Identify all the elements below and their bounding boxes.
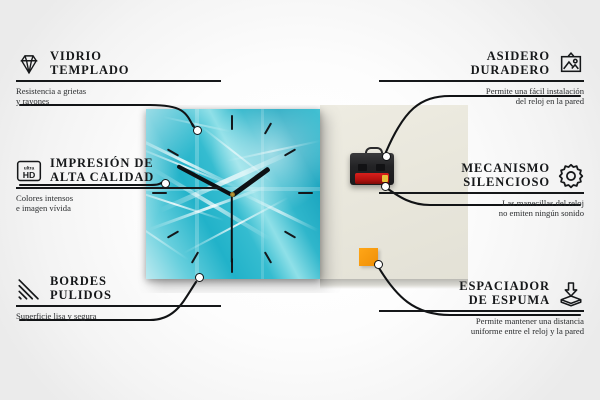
feature-title: MECANISMO SILENCIOSO	[461, 162, 550, 189]
ultra-hd-icon: ultra HD	[16, 158, 42, 184]
feature-subtitle: Colores intensos e imagen vívida	[16, 193, 221, 214]
clock-tick	[231, 115, 233, 130]
feature-divider	[16, 305, 221, 307]
diamond-icon	[16, 51, 42, 77]
clock-tick	[298, 192, 313, 194]
clock-center-pin	[230, 192, 235, 197]
feature-subtitle: Las manecillas del reloj no emiten ningú…	[379, 198, 584, 219]
gear-icon	[558, 163, 584, 189]
feature-title: VIDRIO TEMPLADO	[50, 50, 129, 77]
foam-spacer-icon	[558, 281, 584, 307]
feature-title: ASIDERO DURADERO	[471, 50, 550, 77]
feature-asidero-duradero: ASIDERO DURADERO Permite una fácil insta…	[379, 50, 584, 106]
connector-dot-vidrio-templado	[193, 126, 202, 135]
feature-espaciador-de-espuma: ESPACIADOR DE ESPUMA Permite mantener un…	[379, 280, 584, 336]
feature-subtitle: Permite una fácil instalación del reloj …	[379, 86, 584, 107]
connector-dot-espaciador	[374, 260, 383, 269]
picture-hanger-icon	[558, 51, 584, 77]
connector-dot-asidero	[382, 152, 391, 161]
feature-bordes-pulidos: BORDES PULIDOS Superficie lisa y segura	[16, 275, 221, 321]
feature-divider	[379, 310, 584, 312]
feature-impresion-alta-calidad: ultra HD IMPRESIÓN DE ALTA CALIDAD Color…	[16, 157, 221, 213]
polished-edge-icon	[16, 276, 42, 302]
feature-subtitle: Resistencia a grietas y rayones	[16, 86, 221, 107]
feature-divider	[16, 187, 221, 189]
feature-divider	[379, 80, 584, 82]
feature-subtitle: Superficie lisa y segura	[16, 311, 221, 321]
svg-text:HD: HD	[23, 169, 36, 179]
feature-title: BORDES PULIDOS	[50, 275, 112, 302]
feature-divider	[16, 80, 221, 82]
feature-mecanismo-silencioso: MECANISMO SILENCIOSO Las manecillas del …	[379, 162, 584, 218]
clock-second-hand	[231, 195, 233, 263]
feature-title: ESPACIADOR DE ESPUMA	[459, 280, 550, 307]
movement-knob	[358, 164, 367, 171]
infographic-canvas: VIDRIO TEMPLADO Resistencia a grietas y …	[0, 0, 600, 400]
feature-vidrio-templado: VIDRIO TEMPLADO Resistencia a grietas y …	[16, 50, 221, 106]
feature-divider	[379, 192, 584, 194]
feature-title: IMPRESIÓN DE ALTA CALIDAD	[50, 157, 154, 184]
feature-subtitle: Permite mantener una distancia uniforme …	[379, 316, 584, 337]
